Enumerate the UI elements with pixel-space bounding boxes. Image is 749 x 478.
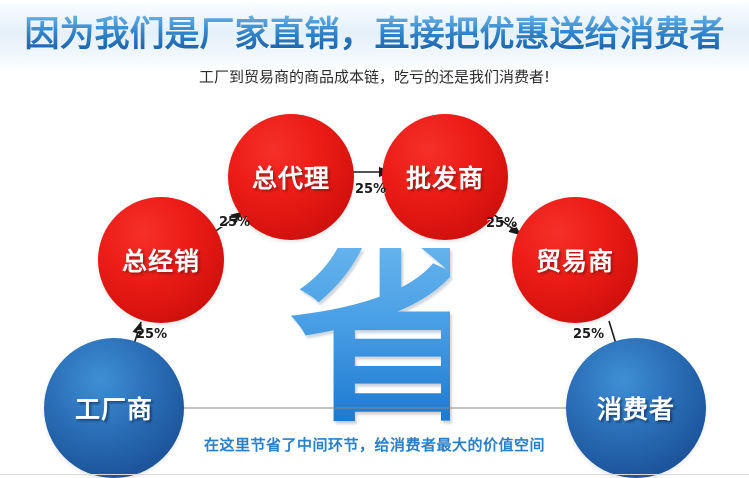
node-trader: 贸易商	[512, 197, 638, 323]
footer-caption: 在这里节省了中间环节，给消费者最大的价值空间	[0, 434, 749, 455]
node-factory: 工厂商	[44, 338, 184, 478]
promo-banner: 因为我们是厂家直销，直接把优惠送给消费者 因为我们是厂家直销，直接把优惠送给消费…	[0, 0, 749, 478]
edge-label-agent-wholesaler: 25%	[355, 182, 386, 197]
node-factory-label: 工厂商	[75, 390, 153, 426]
edge-label-wholesaler-trader: 25%	[486, 216, 517, 231]
edge-label-trader-consumer: 25%	[573, 327, 604, 342]
footer-divider	[0, 474, 749, 475]
page-subtitle: 工厂到贸易商的商品成本链，吃亏的还是我们消费者!	[0, 66, 749, 87]
page-title: 因为我们是厂家直销，直接把优惠送给消费者	[0, 13, 749, 57]
save-glyph: 省	[290, 248, 450, 428]
edge-label-distributor-agent: 25%	[219, 215, 250, 230]
node-agent-label: 总代理	[252, 159, 330, 195]
node-distributor: 总经销	[98, 197, 224, 323]
edge-label-factory-distributor: 25%	[136, 327, 167, 342]
node-consumer-label: 消费者	[597, 390, 675, 426]
node-consumer: 消费者	[566, 338, 706, 478]
node-trader-label: 贸易商	[536, 242, 614, 278]
node-wholesaler-label: 批发商	[406, 159, 484, 195]
node-distributor-label: 总经销	[122, 242, 200, 278]
